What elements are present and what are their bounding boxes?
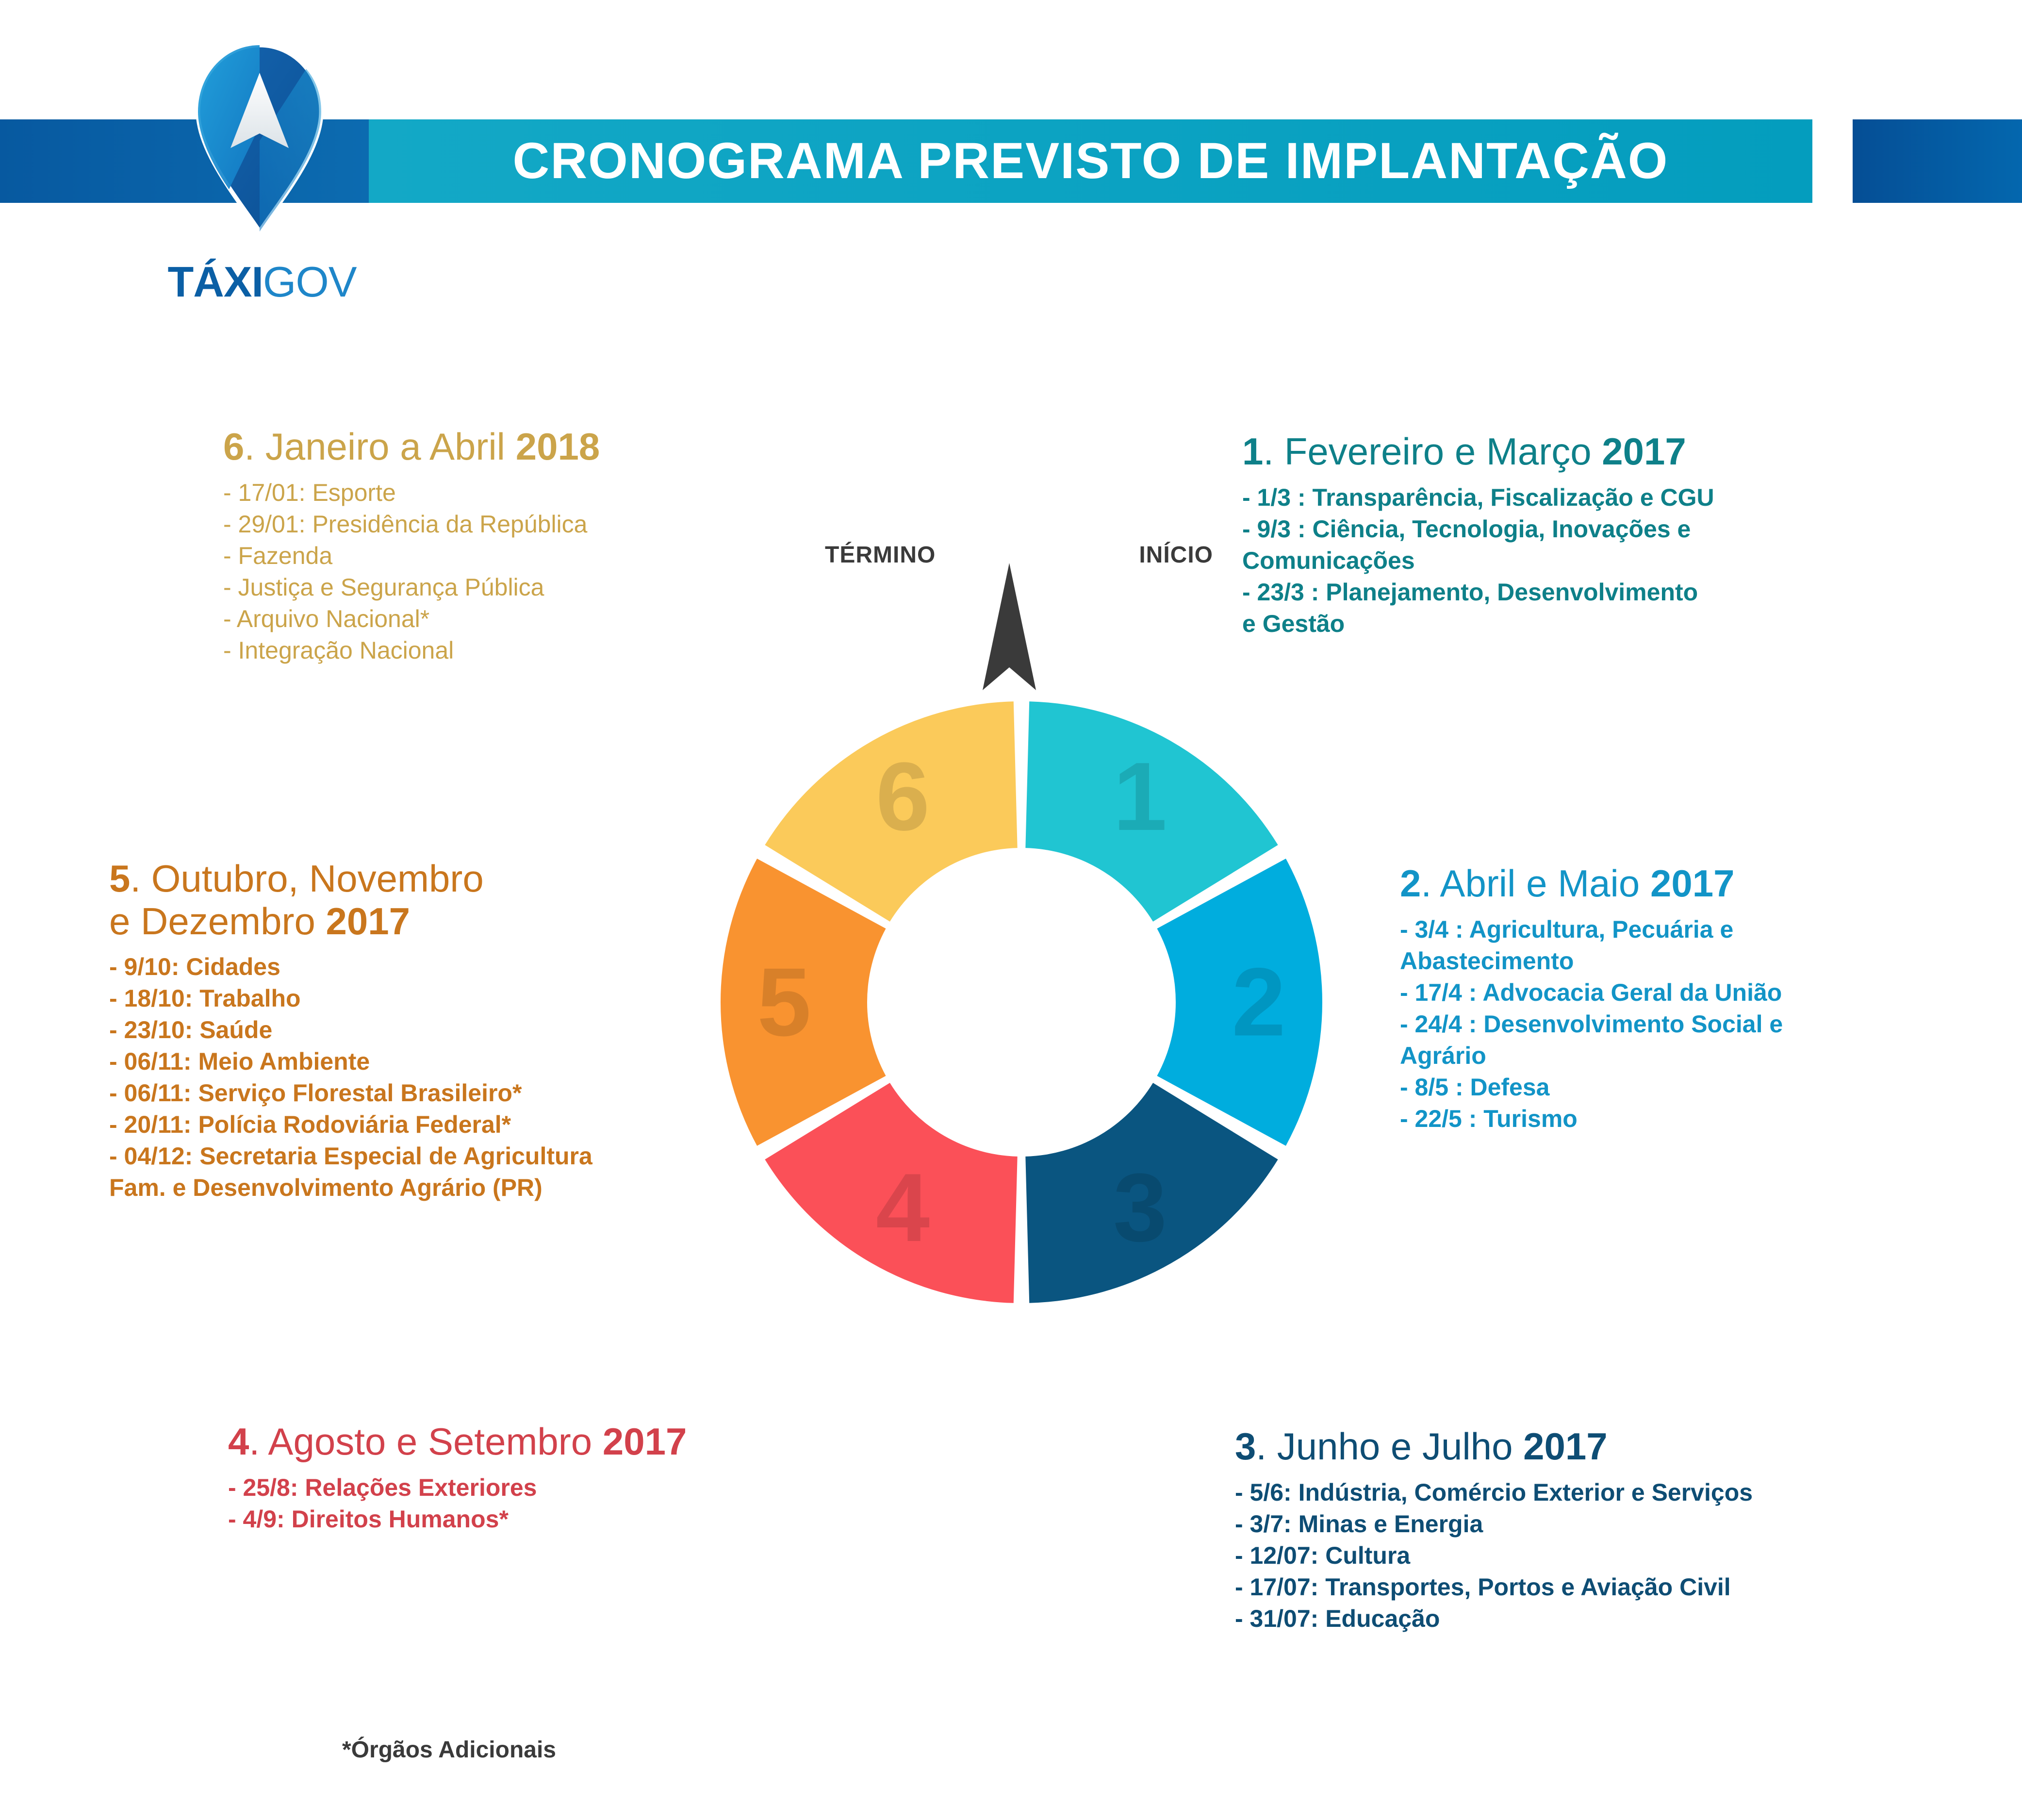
panel-6-title-text: . Janeiro a Abril [244, 425, 515, 468]
list-item: - 12/07: Cultura [1235, 1540, 1963, 1572]
footnote: *Órgãos Adicionais [342, 1737, 556, 1763]
panel-4-title-text: . Agosto e Setembro [249, 1420, 602, 1463]
panel-1-title-text: . Fevereiro e Março [1263, 430, 1602, 473]
panel-4-number: 4 [228, 1420, 249, 1463]
list-item: - 18/10: Trabalho [109, 983, 803, 1014]
list-item: - 29/01: Presidência da República [223, 509, 912, 540]
header-title-block: CRONOGRAMA PREVISTO DE IMPLANTAÇÃO [369, 119, 1812, 203]
list-item: - 8/5 : Defesa [1400, 1072, 2016, 1103]
list-item: - Justiça e Segurança Pública [223, 572, 912, 603]
list-item: - 25/8: Relações Exteriores [228, 1472, 917, 1504]
panel-phase-3: 3. Junho e Julho 2017 - 5/6: Indústria, … [1235, 1383, 1963, 1635]
donut-segment-number-4: 4 [876, 1154, 930, 1262]
panel-phase-6: 6. Janeiro a Abril 2018 - 17/01: Esporte… [223, 383, 912, 666]
panel-1-title: 1. Fevereiro e Março 2017 [1242, 388, 1970, 473]
logo-wordmark: TÁXIGOV [146, 257, 378, 307]
list-item: - 22/5 : Turismo [1400, 1103, 2016, 1135]
list-item: - 17/4 : Advocacia Geral da União [1400, 977, 2016, 1009]
list-item: - 9/3 : Ciência, Tecnologia, Inovações e… [1242, 513, 1970, 577]
list-item: - Arquivo Nacional* [223, 603, 912, 635]
panel-5-year: 2017 [326, 900, 411, 943]
panel-4-year: 2017 [603, 1420, 687, 1463]
panel-5-title: 5. Outubro, Novembro e Dezembro 2017 [109, 815, 803, 943]
panel-6-list: - 17/01: Esporte- 29/01: Presidência da … [223, 477, 912, 666]
list-item: - 17/07: Transportes, Portos e Aviação C… [1235, 1572, 1963, 1603]
panel-2-number: 2 [1400, 862, 1421, 905]
list-item: - 9/10: Cidades [109, 951, 803, 983]
list-item: - 3/4 : Agricultura, Pecuária e Abasteci… [1400, 914, 2016, 977]
panel-3-year: 2017 [1523, 1425, 1608, 1468]
panel-6-year: 2018 [516, 425, 600, 468]
donut-segment-number-1: 1 [1113, 743, 1167, 851]
inicio-label: INÍCIO [1139, 542, 1213, 568]
panel-6-number: 6 [223, 425, 244, 468]
panel-3-title: 3. Junho e Julho 2017 [1235, 1383, 1963, 1468]
panel-phase-4: 4. Agosto e Setembro 2017 - 25/8: Relaçõ… [228, 1378, 917, 1535]
list-item: - 17/01: Esporte [223, 477, 912, 509]
panel-phase-1: 1. Fevereiro e Março 2017 - 1/3 : Transp… [1242, 388, 1970, 640]
list-item: - 23/10: Saúde [109, 1014, 803, 1046]
panel-phase-5: 5. Outubro, Novembro e Dezembro 2017 - 9… [109, 815, 803, 1204]
list-item: - 1/3 : Transparência, Fiscalização e CG… [1242, 482, 1970, 513]
panel-2-year: 2017 [1650, 862, 1735, 905]
process-cycle-donut-chart: 123456 [713, 689, 1330, 1315]
panel-5-list: - 9/10: Cidades- 18/10: Trabalho- 23/10:… [109, 951, 803, 1204]
panel-3-number: 3 [1235, 1425, 1256, 1468]
page-title: CRONOGRAMA PREVISTO DE IMPLANTAÇÃO [369, 119, 1812, 203]
list-item: - 23/3 : Planejamento, Desenvolvimento e… [1242, 577, 1970, 640]
start-end-arrow-icon [946, 563, 1072, 694]
panel-1-number: 1 [1242, 430, 1263, 473]
donut-segment-number-3: 3 [1113, 1154, 1167, 1262]
list-item: - 06/11: Serviço Florestal Brasileiro* [109, 1077, 803, 1109]
list-item: - 06/11: Meio Ambiente [109, 1046, 803, 1077]
list-item: - Fazenda [223, 540, 912, 572]
map-pin-icon [189, 44, 330, 233]
panel-3-list: - 5/6: Indústria, Comércio Exterior e Se… [1235, 1477, 1963, 1635]
panel-6-title: 6. Janeiro a Abril 2018 [223, 383, 912, 468]
list-item: - Integração Nacional [223, 635, 912, 666]
panel-phase-2: 2. Abril e Maio 2017 - 3/4 : Agricultura… [1400, 820, 2016, 1135]
list-item: - 24/4 : Desenvolvimento Social e Agrári… [1400, 1009, 2016, 1072]
panel-2-title-text: . Abril e Maio [1421, 862, 1650, 905]
panel-5-number: 5 [109, 857, 130, 900]
panel-4-list: - 25/8: Relações Exteriores- 4/9: Direit… [228, 1472, 917, 1535]
taxigov-logo: TÁXIGOV [189, 44, 330, 277]
panel-3-title-text: . Junho e Julho [1256, 1425, 1523, 1468]
list-item: - 4/9: Direitos Humanos* [228, 1504, 917, 1535]
list-item: - 20/11: Polícia Rodoviária Federal* [109, 1109, 803, 1141]
list-item: - 3/7: Minas e Energia [1235, 1508, 1963, 1540]
list-item: - 31/07: Educação [1235, 1603, 1963, 1635]
list-item: - 5/6: Indústria, Comércio Exterior e Se… [1235, 1477, 1963, 1508]
panel-2-list: - 3/4 : Agricultura, Pecuária e Abasteci… [1400, 914, 2016, 1135]
panel-2-title: 2. Abril e Maio 2017 [1400, 820, 2016, 905]
panel-1-list: - 1/3 : Transparência, Fiscalização e CG… [1242, 482, 1970, 640]
list-item: - 04/12: Secretaria Especial de Agricult… [109, 1141, 803, 1204]
donut-segment-number-6: 6 [876, 743, 930, 851]
logo-taxi-text: TÁXI [167, 258, 263, 306]
header-right-accent-block [1853, 119, 2022, 203]
panel-5-title-text: . Outubro, Novembro e Dezembro [109, 857, 484, 942]
panel-4-title: 4. Agosto e Setembro 2017 [228, 1378, 917, 1463]
panel-1-year: 2017 [1602, 430, 1686, 473]
logo-gov-text: GOV [263, 258, 357, 306]
donut-segment-number-2: 2 [1232, 948, 1285, 1057]
